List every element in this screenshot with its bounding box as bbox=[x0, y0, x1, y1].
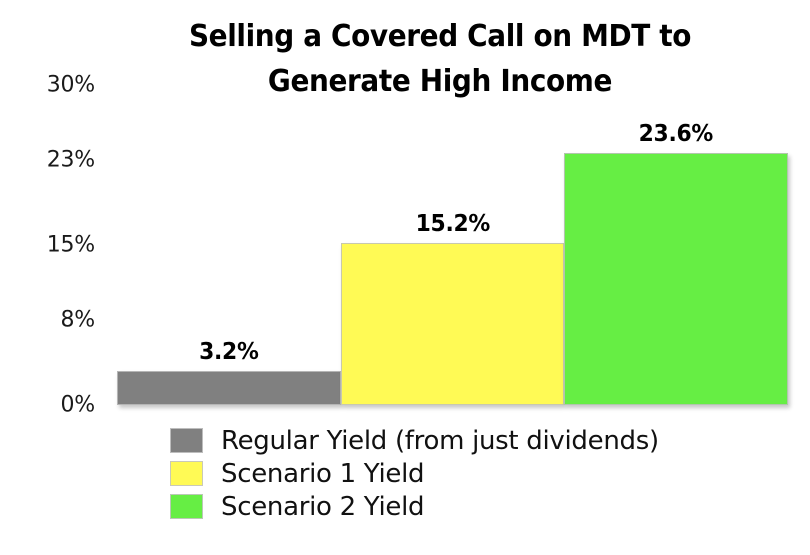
bar-2 bbox=[341, 243, 565, 405]
y-axis-tick-label: 8% bbox=[5, 307, 95, 332]
y-axis-tick-label: 15% bbox=[5, 233, 95, 258]
bar-value-label-1: 3.2% bbox=[123, 339, 335, 365]
legend-item-label: Regular Yield (from just dividends) bbox=[221, 428, 659, 454]
legend-item-3[interactable]: Scenario 2 Yield bbox=[170, 490, 659, 523]
legend-swatch-icon bbox=[170, 428, 203, 453]
legend-swatch-icon bbox=[170, 494, 203, 519]
bar-value-label-2: 15.2% bbox=[346, 211, 558, 237]
y-axis-tick-label: 30% bbox=[5, 73, 95, 98]
y-axis-tick-label: 23% bbox=[5, 147, 95, 172]
bar-3 bbox=[564, 153, 788, 405]
bar-1 bbox=[117, 371, 341, 405]
plot-area: 3.2%15.2%23.6% bbox=[117, 85, 788, 405]
legend-item-label: Scenario 1 Yield bbox=[221, 461, 424, 487]
y-axis: 0%8%15%23%30% bbox=[0, 0, 117, 555]
legend-item-2[interactable]: Scenario 1 Yield bbox=[170, 457, 659, 490]
legend-item-label: Scenario 2 Yield bbox=[221, 494, 424, 520]
bar-chart: Selling a Covered Call on MDT to Generat… bbox=[0, 0, 810, 555]
y-axis-tick-label: 0% bbox=[5, 393, 95, 418]
chart-legend: Regular Yield (from just dividends)Scena… bbox=[170, 424, 659, 523]
legend-item-1[interactable]: Regular Yield (from just dividends) bbox=[170, 424, 659, 457]
legend-swatch-icon bbox=[170, 461, 203, 486]
bar-value-label-3: 23.6% bbox=[570, 121, 782, 147]
